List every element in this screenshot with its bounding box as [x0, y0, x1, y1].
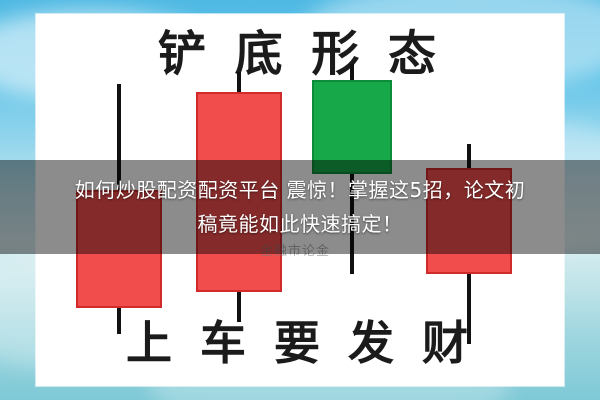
caption-line-1: 如何炒股配资配资平台 震惊！掌握这5招，论文初 — [75, 178, 526, 202]
image-canvas: 铲 底 形 态 上 车 要 发 财 金融市论金 如何炒股配资配资平台 震惊！掌握… — [0, 0, 600, 400]
caption-line-2: 稿竟能如此快速搞定！ — [198, 212, 403, 236]
caption-text: 如何炒股配资配资平台 震惊！掌握这5招，论文初 稿竟能如此快速搞定！ — [65, 173, 536, 241]
caption-overlay-band: 如何炒股配资配资平台 震惊！掌握这5招，论文初 稿竟能如此快速搞定！ — [0, 160, 600, 254]
